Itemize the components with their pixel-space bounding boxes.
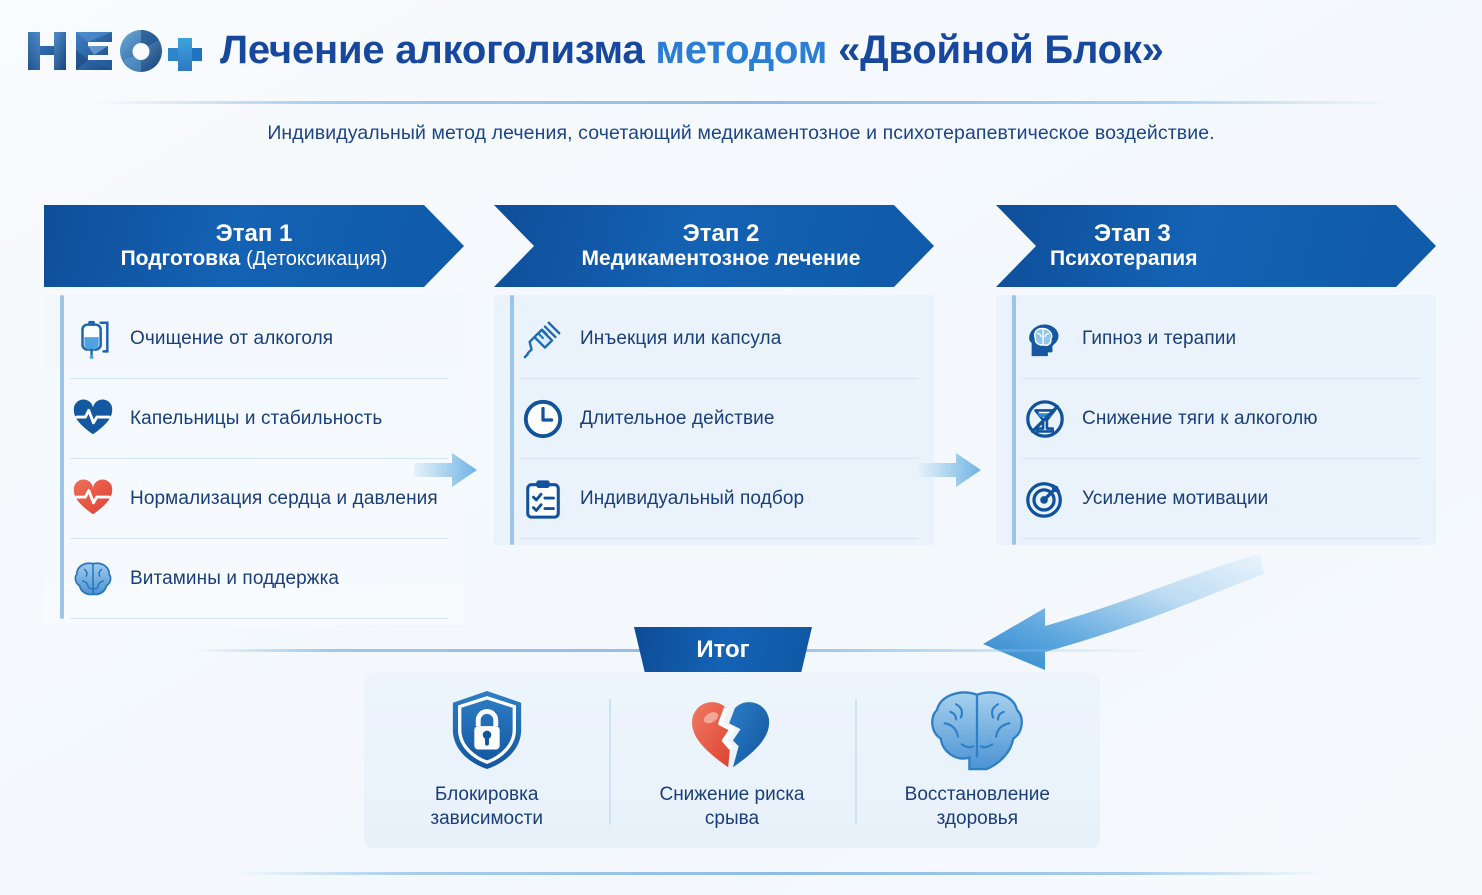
list-item[interactable]: Индивидуальный подбор (520, 459, 918, 539)
list-item-label: Длительное действие (580, 408, 775, 430)
arrow-right-icon (414, 448, 478, 492)
result-label-line2: здоровья (937, 808, 1018, 829)
result-label-line2: зависимости (430, 808, 543, 829)
page-title-part1: Лечение алкоголизма (220, 28, 644, 72)
list-item[interactable]: Длительное действие (520, 379, 918, 459)
list-item-label: Нормализация сердца и давления (130, 488, 438, 510)
stage-1: Этап 1 Подготовка (Детоксикация) (44, 205, 464, 625)
result-banner-label: Итог (696, 636, 749, 664)
list-item[interactable]: Инъекция или капсула (520, 299, 918, 379)
header-divider (90, 101, 1400, 104)
result-column-label: Блокировка зависимости (430, 783, 543, 830)
result-label-line1: Восстановление (905, 784, 1050, 805)
list-item[interactable]: Гипноз и терапии (1022, 299, 1420, 379)
brain-health-icon (927, 691, 1027, 771)
head-brain-icon (1022, 316, 1068, 362)
stage-1-name-paren: (Детоксикация) (246, 248, 387, 270)
result-column-label: Снижение риска срыва (659, 783, 804, 830)
stage-1-body: Очищение от алкоголя Капельницы и стабил… (44, 295, 464, 625)
stage-2: Этап 2 Медикаментозное лечение (494, 205, 934, 545)
list-item[interactable]: Снижение тяги к алкоголю (1022, 379, 1420, 459)
arrow-right-icon (918, 448, 982, 492)
curved-arrow-left-icon (975, 548, 1265, 673)
neo-plus-logo (26, 24, 202, 76)
result-column[interactable]: Блокировка зависимости (364, 693, 609, 829)
stage-3-name: Психотерапия (996, 247, 1197, 271)
page-title-part3: «Двойной Блок» (838, 28, 1164, 72)
clock-icon (520, 396, 566, 442)
stage-1-header[interactable]: Этап 1 Подготовка (Детоксикация) (44, 205, 464, 287)
stage-3-header[interactable]: Этап 3 Психотерапия (996, 205, 1436, 287)
result-column[interactable]: Восстановление здоровья (855, 693, 1100, 829)
list-item-label: Индивидуальный подбор (580, 488, 804, 510)
stages-container: Этап 1 Подготовка (Детоксикация) (0, 205, 1482, 605)
list-item-label: Инъекция или капсула (580, 328, 781, 350)
page-title-part2: методом (655, 28, 827, 72)
result-column-label: Восстановление здоровья (905, 783, 1050, 830)
page-header: Лечение алкоголизма методом «Двойной Бло… (0, 0, 1482, 100)
list-item-label: Витамины и поддержка (130, 568, 339, 590)
footer-divider (236, 872, 1326, 875)
stage-1-accent-bar (60, 295, 64, 619)
heart-pulse-red-icon (70, 476, 116, 522)
stage-1-name-bold: Подготовка (121, 247, 241, 270)
stage-2-accent-bar (510, 295, 514, 545)
list-item[interactable]: Капельницы и стабильность (70, 379, 448, 459)
page-subtitle: Индивидуальный метод лечения, сочетающий… (0, 122, 1482, 145)
stage-3-body: Гипноз и терапии Снижение тяги к алкогол… (996, 295, 1436, 545)
page-title: Лечение алкоголизма методом «Двойной Бло… (220, 28, 1164, 73)
list-item-label: Гипноз и терапии (1082, 328, 1236, 350)
result-card: Блокировка зависимости (364, 673, 1100, 848)
shield-lock-icon (448, 691, 526, 771)
list-item[interactable]: Витамины и поддержка (70, 539, 448, 619)
stage-2-body: Инъекция или капсула Длительное действие (494, 295, 934, 545)
checklist-clipboard-icon (520, 476, 566, 522)
broken-heart-icon (686, 691, 778, 771)
infographic-root: Лечение алкоголизма методом «Двойной Бло… (0, 0, 1482, 895)
stage-1-name: Подготовка (Детоксикация) (121, 247, 388, 271)
heart-pulse-blue-icon (70, 396, 116, 442)
result-label-line1: Снижение риска (659, 784, 804, 805)
stage-2-name: Медикаментозное лечение (582, 247, 861, 271)
stage-2-header[interactable]: Этап 2 Медикаментозное лечение (494, 205, 934, 287)
list-item-label: Снижение тяги к алкоголю (1082, 408, 1318, 430)
result-column[interactable]: Снижение риска срыва (609, 693, 854, 829)
syringe-icon (520, 316, 566, 362)
result-banner[interactable]: Итог (634, 627, 812, 672)
result-label-line2: срыва (705, 808, 759, 829)
no-alcohol-glass-icon (1022, 396, 1068, 442)
result-label-line1: Блокировка (435, 784, 539, 805)
list-item-label: Капельницы и стабильность (130, 408, 382, 430)
list-item[interactable]: Нормализация сердца и давления (70, 459, 448, 539)
list-item-label: Усиление мотивации (1082, 488, 1268, 510)
list-item-label: Очищение от алкоголя (130, 328, 333, 350)
iv-drip-bag-icon (70, 316, 116, 362)
stage-2-number: Этап 2 (683, 221, 760, 246)
stage-3-number: Этап 3 (996, 221, 1171, 246)
stage-3-accent-bar (1012, 295, 1016, 545)
stage-1-number: Этап 1 (216, 221, 293, 246)
brain-icon (70, 556, 116, 602)
list-item[interactable]: Очищение от алкоголя (70, 299, 448, 379)
stage-3: Этап 3 Психотерапия Гипноз и терапии (996, 205, 1436, 545)
target-arrow-icon (1022, 476, 1068, 522)
list-item[interactable]: Усиление мотивации (1022, 459, 1420, 539)
